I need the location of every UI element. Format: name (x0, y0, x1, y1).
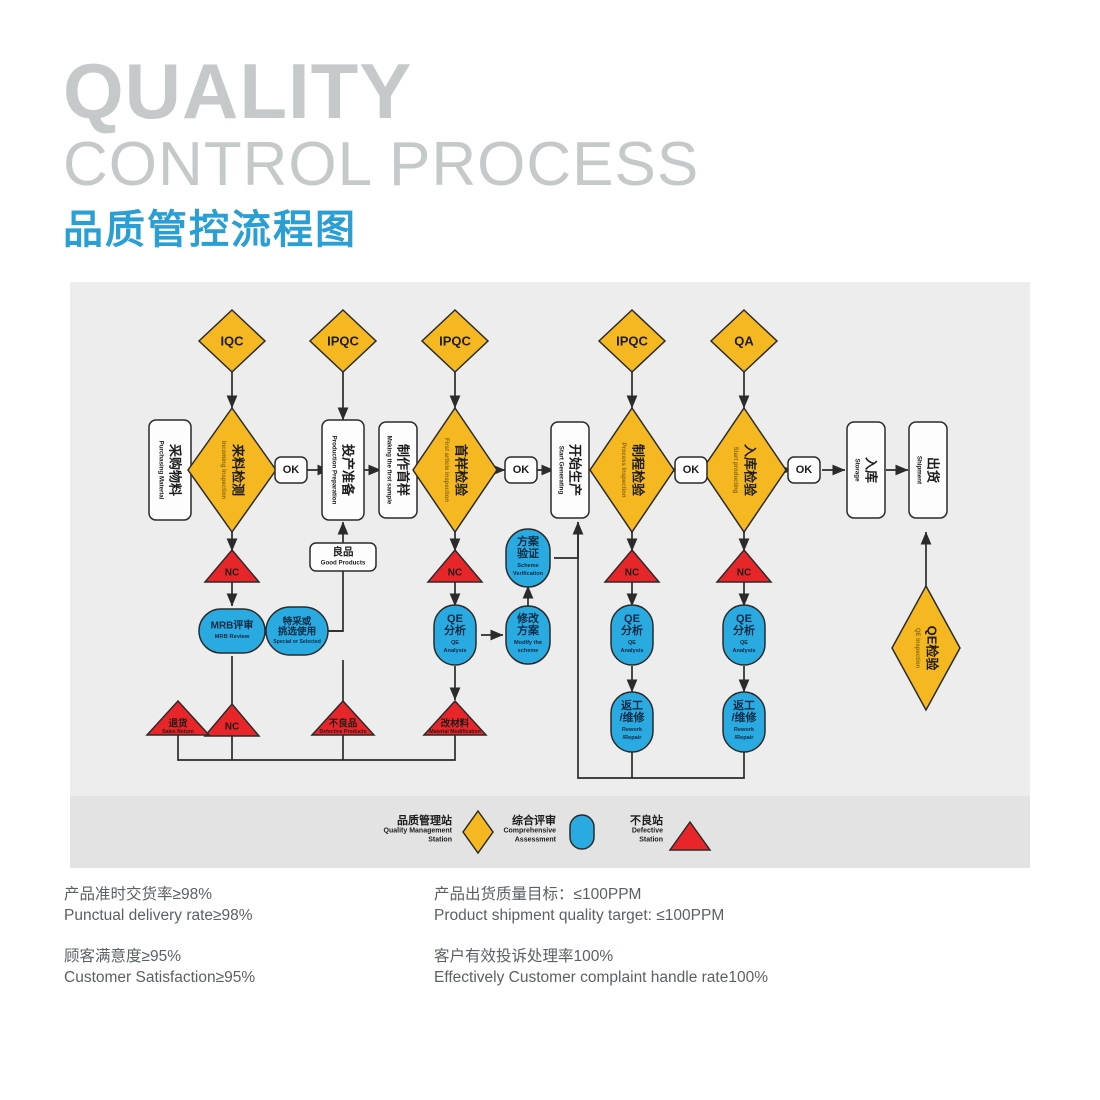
svg-text:Sales Return: Sales Return (162, 729, 194, 735)
svg-text:Process Inspection: Process Inspection (620, 442, 626, 497)
svg-text:IQC: IQC (220, 334, 244, 349)
node-ipqc2: IPQC (422, 310, 488, 372)
svg-text:挑选使用: 挑选使用 (278, 626, 316, 638)
node-ok3: OK (675, 457, 707, 483)
svg-text:首样检验: 首样检验 (454, 444, 469, 497)
svg-text:Special or Selected: Special or Selected (273, 639, 321, 645)
svg-text:方案: 方案 (517, 534, 540, 548)
kpi-cn: 产品出货质量目标：≤100PPM (434, 884, 724, 905)
svg-text:出货: 出货 (926, 457, 941, 483)
kpi-en: Product shipment quality target: ≤100PPM (434, 905, 724, 926)
svg-text:采购物料: 采购物料 (168, 443, 183, 496)
node-start_production: 开始生产Start Generating (551, 422, 589, 518)
kpi-en: Customer Satisfaction≥95% (64, 967, 255, 988)
svg-text:MRB评审: MRB评审 (211, 619, 254, 632)
node-sales_return: 退货Sales Return (147, 701, 209, 735)
svg-text:Storage: Storage (854, 458, 861, 482)
node-nc4: NC (717, 550, 771, 582)
kpi-punctual-delivery: 产品准时交货率≥98% Punctual delivery rate≥98% (64, 884, 253, 926)
svg-text:NC: NC (448, 568, 462, 579)
svg-text:良品: 良品 (333, 545, 354, 558)
node-ipqc3: IPQC (599, 310, 665, 372)
svg-text:Scheme: Scheme (517, 563, 538, 569)
kpi-complaint-handle-rate: 客户有效投诉处理率100% Effectively Customer compl… (434, 946, 768, 988)
svg-text:OK: OK (283, 464, 300, 476)
svg-text:/维修: /维修 (619, 710, 645, 724)
node-good-products: 良品Good Products (310, 543, 376, 571)
legend-layer: 品质管理站Quality ManagementStation综合评审Compre… (384, 811, 710, 853)
svg-text:分析: 分析 (621, 623, 643, 637)
node-first_sample: 制作首样Making the first sample (379, 422, 417, 518)
node-production_prep: 投产准备Production Preparation (322, 420, 364, 520)
legend-item-2: 不良站DefectiveStation (630, 813, 710, 850)
node-ok4: OK (788, 457, 820, 483)
svg-text:/Repair: /Repair (623, 735, 643, 741)
svg-text:Station: Station (428, 837, 452, 844)
node-ok1: OK (275, 457, 307, 483)
svg-text:IPQC: IPQC (327, 334, 359, 349)
svg-text:NC: NC (625, 568, 639, 579)
kpi-cn: 产品准时交货率≥98% (64, 884, 253, 905)
svg-text:分析: 分析 (444, 623, 466, 637)
svg-text:返工: 返工 (733, 698, 755, 712)
svg-text:OK: OK (513, 464, 530, 476)
svg-text:不良站: 不良站 (630, 813, 663, 827)
flowchart-svg: IQCIPQCIPQCIPQCQA采购物料Purchasing Material… (0, 0, 1100, 1100)
svg-text:来料检测: 来料检测 (231, 443, 246, 496)
node-incoming_inspection: 来料检测Incoming Inspection (188, 408, 276, 532)
node-nc_bottom: NC (205, 704, 259, 736)
svg-text:/Repair: /Repair (735, 735, 755, 741)
svg-text:Analysis: Analysis (732, 648, 755, 654)
svg-text:Station: Station (639, 837, 663, 844)
node-purchasing: 采购物料Purchasing Material (149, 420, 191, 520)
node-modify_scheme: 修改方案Modify thescheme (506, 606, 550, 664)
node-storage: 入库Storage (847, 422, 885, 518)
svg-text:Rework: Rework (734, 727, 755, 733)
node-nc3: NC (605, 550, 659, 582)
svg-text:投产准备: 投产准备 (341, 444, 356, 497)
node-process_inspection: 制程检验Process Inspection (590, 408, 674, 532)
svg-text:退货: 退货 (168, 718, 188, 730)
node-rework2: 返工/维修Rework/Repair (723, 692, 765, 752)
node-qa: QA (711, 310, 777, 372)
svg-text:Analysis: Analysis (620, 648, 643, 654)
node-iqc: IQC (199, 310, 265, 372)
svg-text:Modify the: Modify the (514, 640, 542, 646)
legend-item-0: 品质管理站Quality ManagementStation (384, 811, 493, 853)
svg-text:QE: QE (628, 640, 636, 646)
svg-text:不良品: 不良品 (329, 718, 358, 730)
svg-text:QE: QE (624, 613, 640, 625)
svg-text:Quality Management: Quality Management (384, 828, 453, 835)
svg-text:OK: OK (796, 464, 813, 476)
svg-text:制作首样: 制作首样 (396, 444, 411, 496)
node-ok2: OK (505, 457, 537, 483)
svg-text:Defective Products: Defective Products (320, 729, 367, 735)
svg-text:/维修: /维修 (731, 710, 757, 724)
legend-item-1: 综合评审ComprehensiveAssessment (503, 813, 594, 849)
svg-text:QE: QE (736, 613, 752, 625)
node-shipment: 出货Shipment (909, 422, 947, 518)
svg-text:Comprehensive: Comprehensive (503, 828, 556, 835)
svg-text:Assessment: Assessment (515, 837, 557, 844)
svg-text:品质管理站: 品质管理站 (397, 813, 452, 827)
svg-text:QE Inspection: QE Inspection (914, 628, 920, 669)
svg-text:QE: QE (740, 640, 748, 646)
svg-text:Good Products: Good Products (321, 560, 366, 567)
node-special_selected: 特采或挑选使用Special or Selected (266, 607, 328, 655)
svg-text:开始生产: 开始生产 (568, 444, 583, 496)
node-qe_analysis1: QE分析QEAnalysis (434, 605, 476, 665)
node-nc2: NC (428, 550, 482, 582)
node-qe_inspection: QE检验QE Inspection (892, 586, 960, 710)
node-qe_analysis3: QE分析QEAnalysis (723, 605, 765, 665)
svg-text:Purchasing Material: Purchasing Material (158, 441, 165, 500)
svg-text:入库检验: 入库检验 (743, 444, 758, 497)
node-layer: IQCIPQCIPQCIPQCQA采购物料Purchasing Material… (147, 310, 960, 752)
node-storage_inspection: 入库检验Start producting (702, 408, 786, 532)
svg-text:综合评审: 综合评审 (512, 813, 556, 827)
node-ipqc1: IPQC (310, 310, 376, 372)
svg-text:改材料: 改材料 (441, 718, 470, 730)
svg-text:修改: 修改 (516, 611, 540, 625)
svg-text:QA: QA (734, 334, 754, 349)
kpi-en: Effectively Customer complaint handle ra… (434, 967, 768, 988)
svg-text:Making the first sample: Making the first sample (386, 436, 393, 505)
quality-control-process-poster: QUALITY CONTROL PROCESS 品质管控流程图 (0, 0, 1100, 1100)
svg-text:NC: NC (225, 722, 239, 733)
node-qe_analysis2: QE分析QEAnalysis (611, 605, 653, 665)
node-nc1: NC (205, 550, 259, 582)
svg-text:Material Modification: Material Modification (429, 729, 481, 735)
svg-text:分析: 分析 (733, 623, 755, 637)
svg-text:scheme: scheme (518, 648, 539, 654)
svg-text:IPQC: IPQC (439, 334, 471, 349)
node-rework1: 返工/维修Rework/Repair (611, 692, 653, 752)
node-mrb_review: MRB评审MRB Review (199, 609, 265, 653)
node-material_modification: 改材料Material Modification (424, 701, 486, 735)
kpi-cn: 顾客满意度≥95% (64, 946, 255, 967)
svg-text:IPQC: IPQC (616, 334, 648, 349)
svg-text:Defective: Defective (632, 828, 663, 835)
svg-text:Start producting: Start producting (732, 447, 738, 494)
kpi-en: Punctual delivery rate≥98% (64, 905, 253, 926)
svg-text:Production Preparation: Production Preparation (331, 436, 338, 505)
svg-text:First article inspection: First article inspection (443, 438, 449, 502)
svg-text:Shipment: Shipment (916, 456, 923, 484)
svg-text:Rework: Rework (622, 727, 643, 733)
svg-text:Verification: Verification (513, 571, 544, 577)
node-defective_products: 不良品Defective Products (312, 701, 374, 735)
svg-text:QE: QE (447, 613, 463, 625)
svg-text:NC: NC (737, 568, 751, 579)
svg-text:Incoming Inspection: Incoming Inspection (220, 441, 226, 500)
kpi-cn: 客户有效投诉处理率100% (434, 946, 768, 967)
svg-text:验证: 验证 (517, 546, 539, 560)
svg-text:Start Generating: Start Generating (558, 446, 565, 495)
svg-text:QE检验: QE检验 (925, 626, 940, 672)
node-first_article: 首样检验First article inspection (413, 408, 497, 532)
kpi-customer-satisfaction: 顾客满意度≥95% Customer Satisfaction≥95% (64, 946, 255, 988)
svg-text:方案: 方案 (517, 623, 540, 637)
svg-text:OK: OK (683, 464, 700, 476)
kpi-shipment-quality: 产品出货质量目标：≤100PPM Product shipment qualit… (434, 884, 724, 926)
svg-text:返工: 返工 (621, 698, 643, 712)
node-scheme_verification: 方案验证SchemeVerification (506, 529, 550, 587)
svg-text:制程检验: 制程检验 (631, 444, 646, 497)
svg-text:入库: 入库 (864, 457, 879, 483)
svg-text:Analysis: Analysis (443, 648, 466, 654)
svg-text:QE: QE (451, 640, 459, 646)
svg-text:MRB Review: MRB Review (215, 634, 250, 640)
svg-text:NC: NC (225, 568, 239, 579)
